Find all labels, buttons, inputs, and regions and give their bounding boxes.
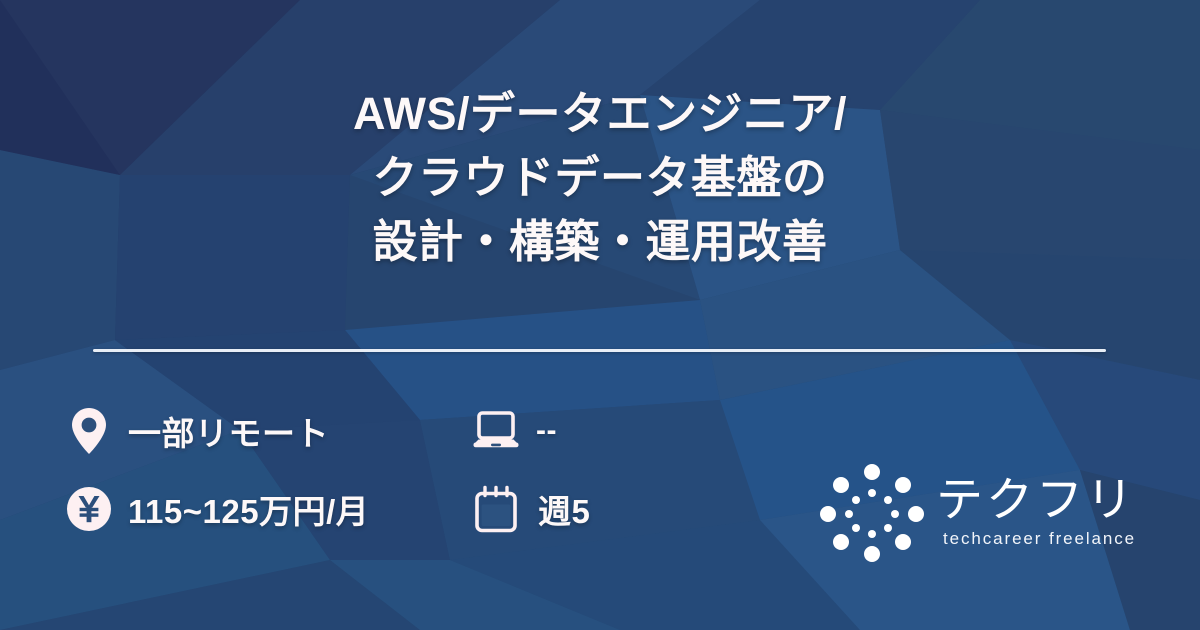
title-line-1: AWS/データエンジニア/ [70, 82, 1130, 146]
divider [93, 349, 1106, 352]
job-meta-list: 一部リモート -- [62, 392, 762, 548]
brand-logo: テクフリ techcareer freelance [818, 462, 1136, 562]
brand-name-jp: テクフリ [936, 473, 1136, 526]
brand-tagline-en: techcareer freelance [936, 528, 1136, 550]
title-line-3: 設計・構築・運用改善 [70, 210, 1130, 274]
device-item: -- [472, 404, 752, 458]
calendar-icon [472, 482, 520, 536]
page-title: AWS/データエンジニア/ クラウドデータ基盤の 設計・構築・運用改善 [0, 82, 1200, 274]
job-meta-row: 一部リモート -- [62, 392, 762, 470]
job-meta-row: 115~125万円/月 週 [62, 470, 762, 548]
work-days-item: 週5 [472, 482, 752, 536]
job-posting-card: AWS/データエンジニア/ クラウドデータ基盤の 設計・構築・運用改善 一部リモ… [0, 0, 1200, 630]
dot-cluster-icon [818, 462, 926, 562]
work-style-label: 一部リモート [128, 407, 329, 455]
yen-circle-icon [62, 482, 116, 536]
salary-item: 115~125万円/月 [62, 482, 472, 536]
device-label: -- [536, 414, 557, 448]
laptop-icon [472, 404, 520, 458]
salary-label: 115~125万円/月 [128, 485, 369, 533]
work-style-item: 一部リモート [62, 404, 472, 458]
map-pin-icon [62, 404, 116, 458]
title-line-2: クラウドデータ基盤の [70, 146, 1130, 210]
brand-logo-text: テクフリ techcareer freelance [936, 474, 1136, 550]
work-days-label: 週5 [538, 485, 590, 533]
